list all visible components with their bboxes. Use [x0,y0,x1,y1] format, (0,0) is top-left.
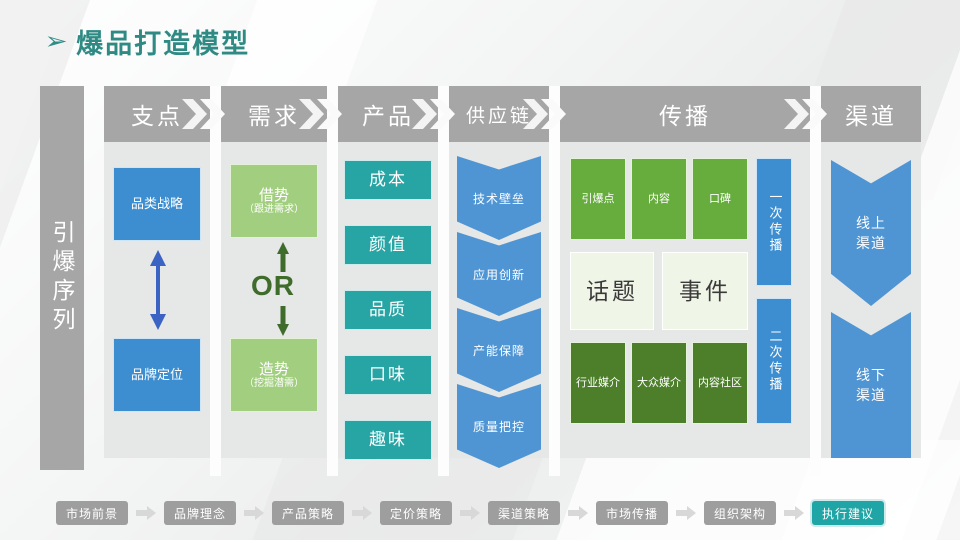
column-channel-title: 渠道 [845,97,897,131]
chevron-offline-channel[interactable]: 线下 渠道 [831,312,911,458]
chevron-tech-barrier[interactable]: 技术壁垒 [457,156,541,240]
box-create-momentum[interactable]: 造势 （挖掘潜需） [230,338,318,412]
column-product[interactable]: 产品 成本 颜值 品质 口味 趣味 [338,86,438,470]
column-supply-chain-body: 技术壁垒 应用创新 产能保障 质量把控 [449,142,549,458]
footer-step-2[interactable]: 品牌理念 [164,501,236,525]
or-operator-label: OR [251,270,295,302]
column-supply-chain[interactable]: 供应链 技术壁垒 应用创新 产能保障 质量把控 [449,86,549,470]
gap-3 [438,86,449,476]
box-topic[interactable]: 话题 [570,252,654,330]
column-channel[interactable]: 渠道 线上 渠道 线下 渠道 [821,86,921,470]
gap-1 [210,86,221,476]
gap-5 [810,86,821,476]
gap-2 [327,86,338,476]
footer-arrow-icon-7 [783,501,805,525]
chevron-application-innovation[interactable]: 应用创新 [457,232,541,316]
footer-arrow-icon-5 [567,501,589,525]
box-event[interactable]: 事件 [662,252,748,330]
page-title-text: 爆品打造模型 [76,22,250,61]
column-demand[interactable]: 需求 借势 （跟进需求） OR 造势 （挖掘潜需） [221,86,327,470]
column-demand-body: 借势 （跟进需求） OR 造势 （挖掘潜需） [221,142,327,458]
arrow-bullet-icon: ➢ [44,30,67,54]
box-create-momentum-note: （挖掘潜需） [244,378,304,390]
chevron-sep-5 [784,86,830,142]
chevron-capacity-guarantee[interactable]: 产能保障 [457,308,541,392]
box-product-cost[interactable]: 成本 [344,160,432,200]
box-product-quality[interactable]: 品质 [344,290,432,330]
footer-arrow-icon-4 [459,501,481,525]
column-fulcrum[interactable]: 支点 品类战略 品牌定位 [104,86,210,470]
arrow-down-icon [276,306,290,336]
chevron-sep-1 [182,86,228,142]
box-industry-media[interactable]: 行业媒介 [570,342,626,424]
double-arrow-icon [148,250,168,330]
box-mass-media[interactable]: 大众媒介 [631,342,687,424]
chevron-sep-2 [299,86,345,142]
box-borrow-momentum-note: （跟进需求） [244,204,304,216]
gap-4 [549,86,560,476]
chevron-sep-4 [523,86,569,142]
column-spread-title: 传播 [659,97,711,131]
box-word-of-mouth[interactable]: 口碑 [692,158,748,240]
column-product-title: 产品 [362,97,414,131]
column-spread-body: 引爆点 内容 口碑 话题 事件 行业媒介 大众媒介 内容社区 一次传播 二次传播 [560,142,810,458]
footer-step-7[interactable]: 组织架构 [704,501,776,525]
footer-step-8-active[interactable]: 执行建议 [812,501,884,525]
column-fulcrum-body: 品类战略 品牌定位 [104,142,210,458]
model-board: 引爆序列 支点 品类战略 品牌定位 需求 [0,86,960,482]
sequence-label-bar: 引爆序列 [40,86,84,470]
bar-primary-spread[interactable]: 一次传播 [756,158,792,286]
column-demand-title: 需求 [248,97,300,131]
footer-step-1[interactable]: 市场前景 [56,501,128,525]
footer-step-4[interactable]: 定价策略 [380,501,452,525]
column-spread[interactable]: 传播 引爆点 内容 口碑 话题 事件 行业媒介 大众媒介 内容社区 [560,86,810,470]
footer-step-flow: 市场前景 品牌理念 产品策略 定价策略 渠道策略 市场传播 组织架构 执行建议 [0,486,960,540]
column-fulcrum-title: 支点 [131,97,183,131]
column-channel-header: 渠道 [821,86,921,142]
footer-step-5[interactable]: 渠道策略 [488,501,560,525]
footer-arrow-icon-2 [243,501,265,525]
box-content[interactable]: 内容 [631,158,687,240]
column-channel-body: 线上 渠道 线下 渠道 [821,142,921,458]
box-product-appearance[interactable]: 颜值 [344,225,432,265]
footer-arrow-icon-6 [675,501,697,525]
column-spread-header: 传播 [560,86,810,142]
bar-secondary-spread[interactable]: 二次传播 [756,298,792,424]
column-product-body: 成本 颜值 品质 口味 趣味 [338,142,438,458]
box-product-taste[interactable]: 口味 [344,355,432,395]
box-product-fun[interactable]: 趣味 [344,420,432,460]
box-trigger-point[interactable]: 引爆点 [570,158,626,240]
box-brand-positioning[interactable]: 品牌定位 [113,338,201,412]
arrow-up-icon [276,242,290,272]
footer-arrow-icon-1 [135,501,157,525]
page-title: ➢ 爆品打造模型 [46,22,250,61]
footer-arrow-icon-3 [351,501,373,525]
box-borrow-momentum[interactable]: 借势 （跟进需求） [230,164,318,238]
chevron-online-channel[interactable]: 线上 渠道 [831,160,911,306]
chevron-quality-control[interactable]: 质量把控 [457,384,541,468]
chevron-sep-3 [412,86,458,142]
footer-step-6[interactable]: 市场传播 [596,501,668,525]
footer-step-3[interactable]: 产品策略 [272,501,344,525]
box-content-community[interactable]: 内容社区 [692,342,748,424]
sequence-label-text: 引爆序列 [45,220,79,336]
box-category-strategy[interactable]: 品类战略 [113,167,201,241]
